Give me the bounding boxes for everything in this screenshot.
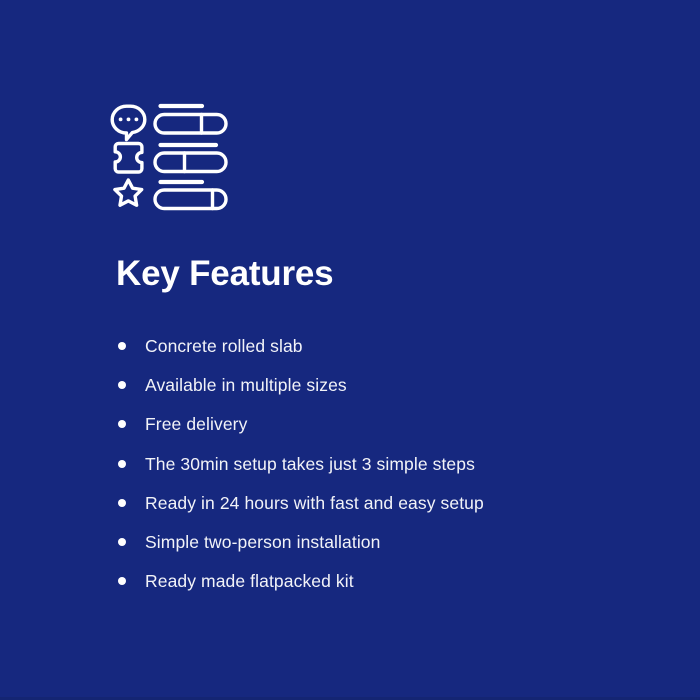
features-list-icon <box>108 100 230 212</box>
list-item-label: Simple two-person installation <box>145 531 380 553</box>
bullet-icon <box>118 538 126 546</box>
progress-bar-row-1 <box>155 106 226 133</box>
bullet-icon <box>118 420 126 428</box>
bullet-icon <box>118 499 126 507</box>
progress-bar-row-2 <box>155 145 226 172</box>
list-item: Free delivery <box>116 405 676 444</box>
list-item: Concrete rolled slab <box>116 326 676 365</box>
list-item-label: Free delivery <box>145 413 247 435</box>
bullet-icon <box>118 381 126 389</box>
list-item: Ready in 24 hours with fast and easy set… <box>116 483 676 522</box>
list-item: Ready made flatpacked kit <box>116 562 676 601</box>
speech-bubble-dots-icon <box>112 106 145 139</box>
page-title: Key Features <box>116 252 333 296</box>
features-list: Concrete rolled slab Available in multip… <box>116 326 676 601</box>
list-item-label: Available in multiple sizes <box>145 374 347 396</box>
list-item: Available in multiple sizes <box>116 365 676 404</box>
progress-bar-row-3 <box>155 182 226 209</box>
bullet-icon <box>118 577 126 585</box>
list-item-label: Ready made flatpacked kit <box>145 570 354 592</box>
key-features-card: Key Features Concrete rolled slab Availa… <box>0 0 700 700</box>
bullet-icon <box>118 342 126 350</box>
list-item: Simple two-person installation <box>116 522 676 561</box>
list-item-label: The 30min setup takes just 3 simple step… <box>145 453 475 475</box>
list-item-label: Ready in 24 hours with fast and easy set… <box>145 492 484 514</box>
list-item: The 30min setup takes just 3 simple step… <box>116 444 676 483</box>
list-item-label: Concrete rolled slab <box>145 335 303 357</box>
star-icon <box>115 180 142 205</box>
puzzle-piece-icon <box>115 144 142 173</box>
bullet-icon <box>118 460 126 468</box>
